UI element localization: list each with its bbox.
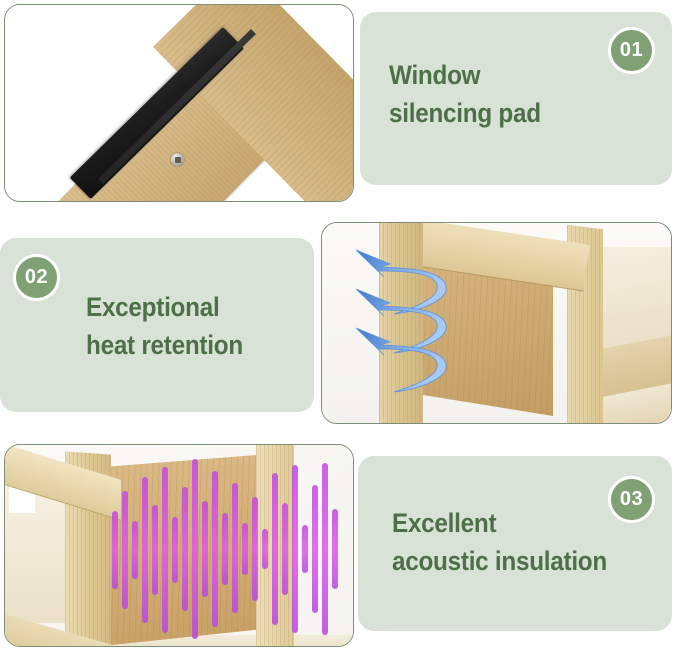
feature-number-badge-2: 02 (13, 254, 60, 301)
feature-heading-3: Excellent acoustic insulation (392, 504, 607, 581)
heat-arrow-icon (350, 322, 468, 396)
feature-number-badge-3: 03 (608, 476, 655, 523)
window-silencing-pad-photo (5, 5, 353, 201)
screw-icon (171, 153, 184, 166)
feature-list: 01 Window silencing pad 02 Exceptional h… (0, 0, 679, 655)
feature-text-card-1: 01 Window silencing pad (360, 12, 672, 185)
feature-number-badge-1: 01 (608, 27, 655, 74)
feature-text-card-2: 02 Exceptional heat retention (0, 238, 314, 412)
feature-row-3: 03 Excellent acoustic insulation (0, 437, 679, 655)
feature-row-1: 01 Window silencing pad (0, 0, 679, 212)
feature-row-2: 02 Exceptional heat retention (0, 218, 679, 430)
acoustic-insulation-photo (5, 445, 353, 646)
feature-image-card-3 (4, 444, 354, 647)
feature-heading-2: Exceptional heat retention (86, 288, 243, 365)
heat-retention-photo (322, 223, 671, 423)
feature-heading-1: Window silencing pad (389, 56, 541, 133)
feature-image-card-2 (321, 222, 672, 424)
feature-text-card-3: 03 Excellent acoustic insulation (358, 456, 672, 631)
feature-image-card-1 (4, 4, 354, 202)
waveform-icon (110, 453, 345, 643)
